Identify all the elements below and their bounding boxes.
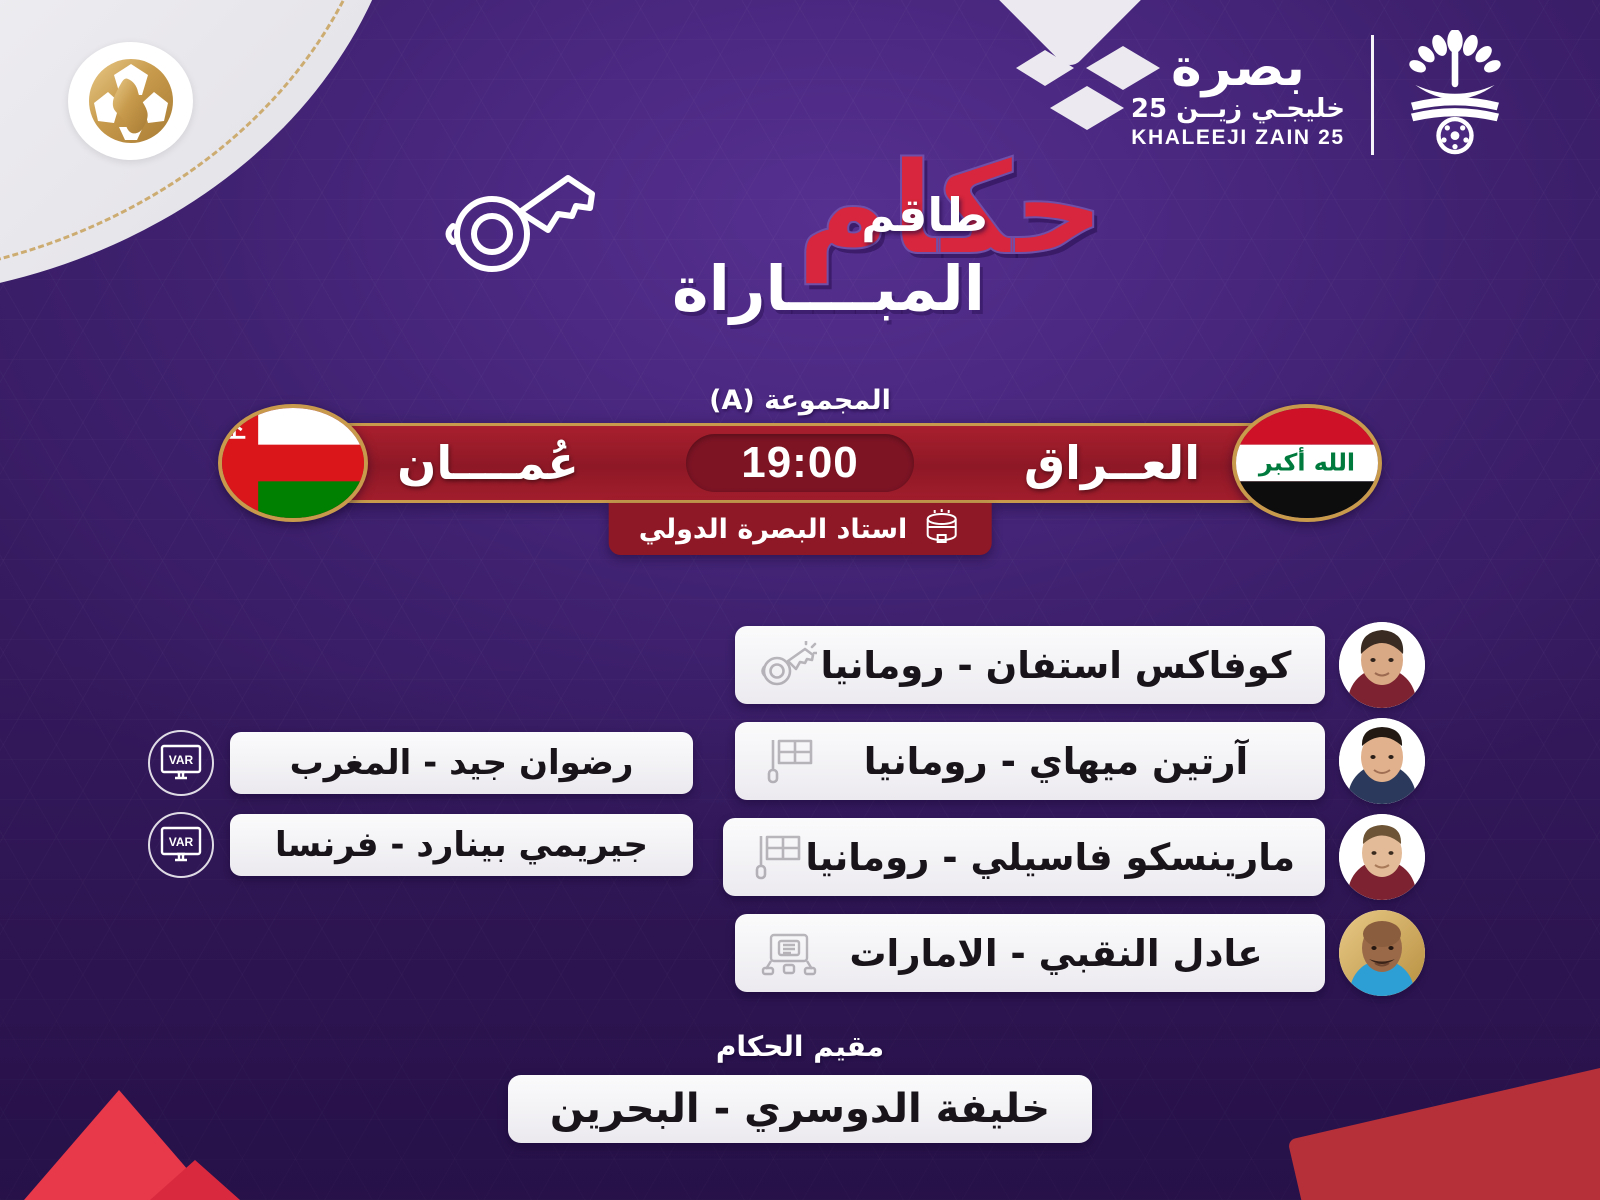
poster-canvas: بصرة خليجـي زيــن 25 KHALEEJI ZAIN 25 حك… bbox=[0, 0, 1600, 1200]
match-bar: العــراق 19:00 عُمــــان bbox=[290, 423, 1310, 503]
svg-text:VAR: VAR bbox=[169, 753, 194, 767]
var-monitor-icon: VAR bbox=[148, 812, 214, 878]
triangle-small bbox=[150, 1160, 240, 1200]
official-row[interactable]: مارينسكو فاسيلي - رومانيا bbox=[735, 814, 1425, 900]
match-time: 19:00 bbox=[686, 434, 914, 492]
tournament-name-en: KHALEEJI ZAIN 25 bbox=[1131, 127, 1345, 148]
official-row[interactable]: آرتين ميهاي - رومانيا bbox=[735, 718, 1425, 804]
svg-text:VAR: VAR bbox=[169, 835, 194, 849]
tournament-name-ar-secondary: خليجـي زيــن 25 bbox=[1131, 96, 1345, 122]
official-row[interactable]: عادل النقبي - الامارات bbox=[735, 910, 1425, 996]
assessor-name: خليفة الدوسري - البحرين bbox=[550, 1086, 1050, 1132]
stadium-icon bbox=[921, 507, 961, 552]
diamond-small-3 bbox=[1050, 86, 1124, 130]
var-monitor-icon: VAR bbox=[148, 730, 214, 796]
tournament-name-ar-primary: بصرة bbox=[1131, 42, 1345, 94]
var-card[interactable]: رضوان جيد - المغرب bbox=[230, 732, 693, 794]
page-title: حكام طاقم المبــــاراة bbox=[0, 150, 1600, 340]
official-card[interactable]: كوفاكس استفان - رومانيا bbox=[735, 626, 1325, 704]
iraq-flag: الله أكبر bbox=[1232, 404, 1382, 522]
referee-avatar-4 bbox=[1339, 910, 1425, 996]
official-name: كوفاكس استفان - رومانيا bbox=[817, 644, 1295, 687]
assessor-label: مقيم الحكام bbox=[0, 1030, 1600, 1063]
official-name: مارينسكو فاسيلي - رومانيا bbox=[805, 836, 1295, 879]
var-row[interactable]: VAR جيريمي بينارد - فرنسا bbox=[148, 812, 693, 878]
svg-text:الله أكبر: الله أكبر bbox=[1258, 445, 1355, 476]
assessor-card[interactable]: خليفة الدوسري - البحرين bbox=[508, 1075, 1092, 1143]
group-label: المجموعة (A) bbox=[0, 385, 1600, 416]
oman-flag bbox=[218, 404, 368, 522]
fourth-official-board-icon bbox=[761, 929, 817, 977]
match-bar-section: العــراق 19:00 عُمــــان الله أكبر bbox=[0, 423, 1600, 583]
officials-list: كوفاكس استفان - رومانيا bbox=[735, 622, 1425, 996]
official-row[interactable]: كوفاكس استفان - رومانيا bbox=[735, 622, 1425, 708]
flag-icon bbox=[749, 833, 805, 881]
var-officials-list: VAR رضوان جيد - المغرب VAR جيريمي بينارد… bbox=[148, 730, 693, 878]
title-sub: المبــــاراة bbox=[672, 258, 985, 320]
referee-avatar-1 bbox=[1339, 622, 1425, 708]
official-name: عادل النقبي - الامارات bbox=[817, 932, 1295, 975]
var-official-name: جيريمي بينارد - فرنسا bbox=[275, 825, 648, 865]
var-row[interactable]: VAR رضوان جيد - المغرب bbox=[148, 730, 693, 796]
title-small: طاقم bbox=[861, 192, 988, 238]
whistle-icon bbox=[761, 641, 817, 689]
official-name: آرتين ميهاي - رومانيا bbox=[817, 740, 1295, 783]
venue-name: استاد البصرة الدولي bbox=[639, 514, 908, 545]
logo-divider bbox=[1371, 35, 1374, 155]
tournament-logo: بصرة خليجـي زيــن 25 KHALEEJI ZAIN 25 bbox=[1131, 30, 1510, 160]
flag-icon bbox=[761, 737, 817, 785]
venue-tab: استاد البصرة الدولي bbox=[609, 503, 992, 555]
gulf-cup-ball-map-logo bbox=[68, 42, 193, 160]
var-official-name: رضوان جيد - المغرب bbox=[290, 743, 634, 783]
official-card[interactable]: آرتين ميهاي - رومانيا bbox=[735, 722, 1325, 800]
referee-avatar-2 bbox=[1339, 718, 1425, 804]
assessor-section: مقيم الحكام خليفة الدوسري - البحرين bbox=[0, 1030, 1600, 1143]
saudi-palm-swords-football-emblem bbox=[1400, 30, 1510, 160]
var-card[interactable]: جيريمي بينارد - فرنسا bbox=[230, 814, 693, 876]
official-card[interactable]: عادل النقبي - الامارات bbox=[735, 914, 1325, 992]
official-card[interactable]: مارينسكو فاسيلي - رومانيا bbox=[723, 818, 1325, 896]
referee-avatar-3 bbox=[1339, 814, 1425, 900]
whistle-icon bbox=[440, 168, 605, 278]
